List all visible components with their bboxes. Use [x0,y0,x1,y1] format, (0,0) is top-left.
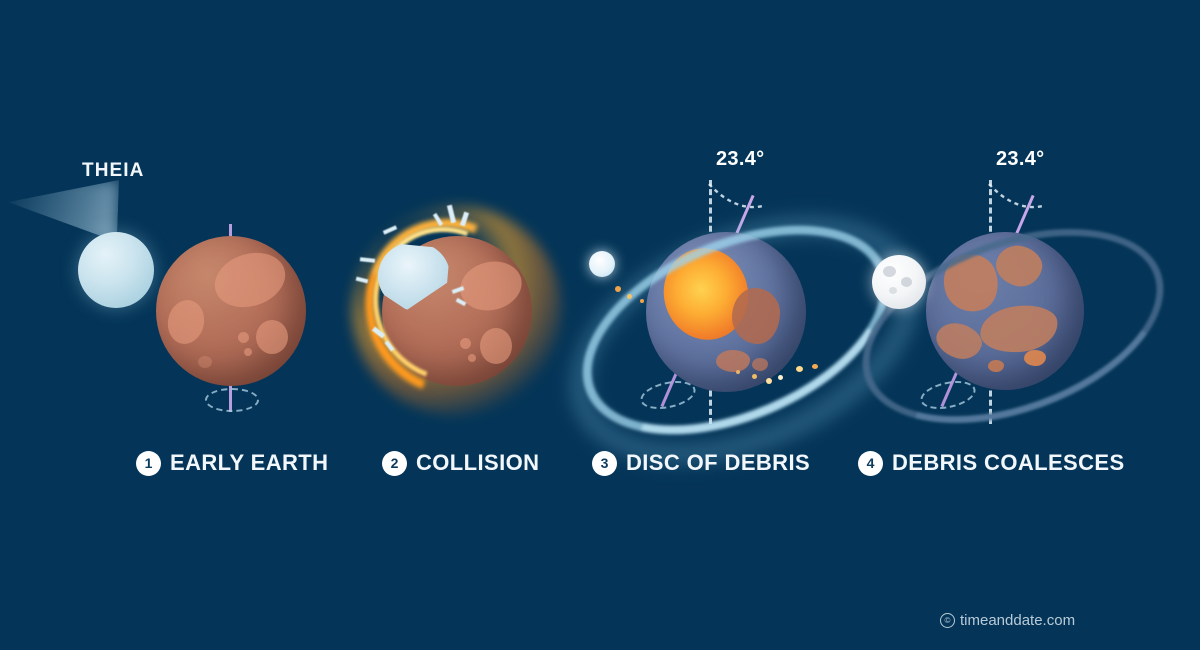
surface-crater [164,297,208,348]
infographic-canvas: THEIA 1 EARLY EARTH [0,0,1200,650]
debris-particle [640,299,644,303]
moon-crater [901,277,912,287]
caption-debris-coalesces: 4 DEBRIS COALESCES [858,450,1125,476]
ejecta-spark [360,257,375,263]
surface-crater [244,348,252,356]
debris-particle [752,374,757,379]
surface-crater [198,356,212,368]
debris-particle [736,370,740,374]
theia-label: THEIA [82,160,145,182]
debris-particle [812,364,818,369]
copyright-icon: © [940,613,955,628]
watermark: © timeanddate.com [940,612,1075,629]
debris-particle [627,294,632,299]
debris-particle [796,366,803,372]
step-label-2: COLLISION [416,450,539,476]
tilt-angle-label-panel4: 23.4° [996,148,1044,171]
surface-crater [256,320,288,354]
tilt-angle-arc-panel4 [985,178,1053,220]
debris-particle [615,286,621,292]
moon-crater [883,266,896,277]
step-label-1: EARLY EARTH [170,450,328,476]
caption-collision: 2 COLLISION [382,450,539,476]
proto-moon-icon [589,251,615,277]
moon-icon [872,255,926,309]
theia-body-icon [78,232,154,308]
step-badge-1: 1 [136,451,161,476]
caption-early-earth: 1 EARLY EARTH [136,450,328,476]
caption-disc-of-debris: 3 DISC OF DEBRIS [592,450,810,476]
step-label-3: DISC OF DEBRIS [626,450,810,476]
surface-crater [238,332,249,343]
debris-particle [778,375,783,380]
surface-crater [208,244,293,316]
tilt-angle-arc-panel3 [705,178,773,220]
step-badge-3: 3 [592,451,617,476]
comet-trail-icon [7,176,119,242]
moon-crater [889,287,897,294]
rotation-direction-icon-panel1 [205,388,259,412]
tilt-angle-label-panel3: 23.4° [716,148,764,171]
step-label-4: DEBRIS COALESCES [892,450,1125,476]
early-earth-body [156,236,306,386]
step-badge-2: 2 [382,451,407,476]
watermark-text: timeanddate.com [960,612,1075,629]
debris-particle [766,378,772,384]
step-badge-4: 4 [858,451,883,476]
